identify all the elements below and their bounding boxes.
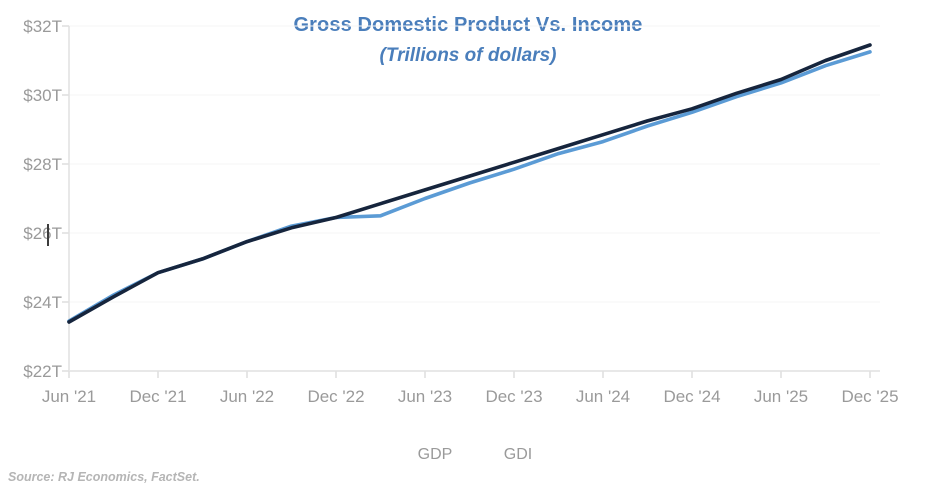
series-line-gdi: [69, 52, 870, 321]
y-axis-ticks: [62, 26, 69, 371]
axis-lines: [69, 26, 880, 371]
text-cursor-artifact: [47, 224, 49, 246]
gridlines: [69, 26, 880, 302]
source-note: Source: RJ Economics, FactSet.: [8, 470, 200, 484]
chart-container: Gross Domestic Product Vs. Income (Trill…: [0, 0, 936, 494]
x-axis-ticks: [69, 371, 870, 378]
legend-item-gdp[interactable]: GDP: [405, 447, 465, 463]
legend-item-gdi[interactable]: GDI: [488, 447, 548, 463]
plot-area: [0, 0, 936, 494]
